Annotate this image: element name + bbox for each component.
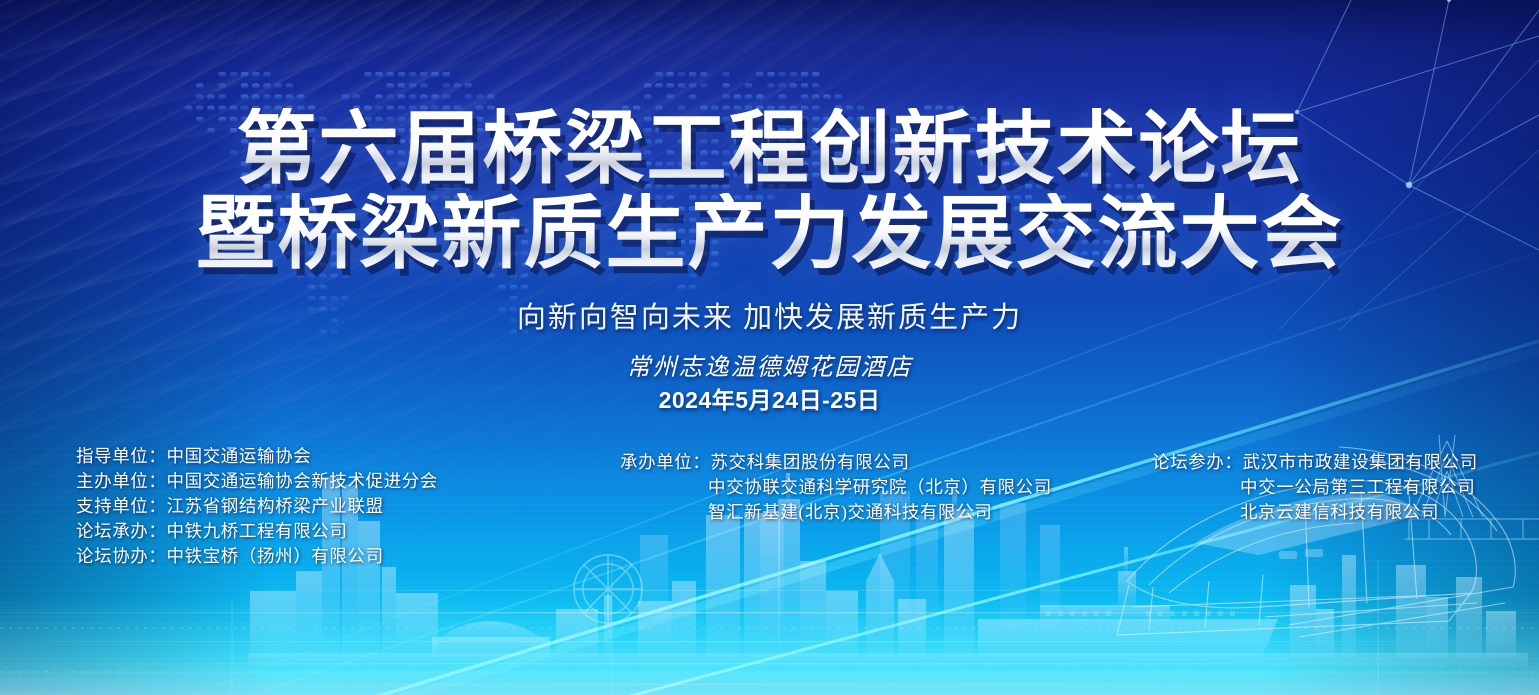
title-line-2: 暨桥梁新质生产力发展交流大会 [0, 193, 1539, 278]
credit-row: 北京云建信科技有限公司 [1152, 500, 1478, 525]
credit-value: 中国交通运输协会新技术促进分会 [167, 469, 439, 494]
conference-banner: 第六届桥梁工程创新技术论坛 暨桥梁新质生产力发展交流大会 向新向智向未来 加快发… [0, 0, 1539, 695]
credit-label: 承办单位： [620, 450, 711, 475]
credit-value: 中交一公局第三工程有限公司 [1240, 475, 1475, 500]
credits-column-middle: 承办单位：苏交科集团股份有限公司 中交协联交通科学研究院（北京）有限公司 智汇新… [620, 450, 1052, 525]
credit-label: 指导单位： [76, 444, 167, 469]
venue-name: 常州志逸温德姆花园酒店 [0, 352, 1539, 384]
credit-value: 北京云建信科技有限公司 [1240, 500, 1439, 525]
credit-row: 指导单位：中国交通运输协会 [76, 444, 438, 469]
credit-row: 论坛参办：武汉市市政建设集团有限公司 [1152, 450, 1478, 475]
credit-value: 中国交通运输协会 [167, 444, 312, 469]
credit-row: 论坛承办：中铁九桥工程有限公司 [76, 519, 438, 544]
credit-row: 支持单位：江苏省钢结构桥梁产业联盟 [76, 494, 438, 519]
credit-row: 中交协联交通科学研究院（北京）有限公司 [620, 475, 1052, 500]
credit-value: 苏交科集团股份有限公司 [711, 450, 910, 475]
credit-label: 主办单位： [76, 469, 167, 494]
venue-block: 常州志逸温德姆花园酒店 2024年5月24日-25日 [0, 352, 1539, 418]
credits-column-right: 论坛参办：武汉市市政建设集团有限公司 中交一公局第三工程有限公司 北京云建信科技… [1152, 450, 1478, 525]
title-block: 第六届桥梁工程创新技术论坛 暨桥梁新质生产力发展交流大会 [0, 108, 1539, 278]
credit-label: 论坛协办： [76, 544, 167, 569]
credit-label: 论坛承办： [76, 519, 167, 544]
credit-label: 支持单位： [76, 494, 167, 519]
slogan: 向新向智向未来 加快发展新质生产力 [0, 294, 1539, 336]
credit-row: 主办单位：中国交通运输协会新技术促进分会 [76, 469, 438, 494]
credit-value: 武汉市市政建设集团有限公司 [1243, 450, 1478, 475]
credit-value: 中铁宝桥（扬州）有限公司 [167, 544, 384, 569]
event-dates: 2024年5月24日-25日 [0, 384, 1539, 417]
credit-row: 承办单位：苏交科集团股份有限公司 [620, 450, 1052, 475]
credit-row: 智汇新基建(北京)交通科技有限公司 [620, 500, 1052, 525]
credits-section: 指导单位：中国交通运输协会 主办单位：中国交通运输协会新技术促进分会 支持单位：… [0, 444, 1539, 574]
credit-value: 智汇新基建(北京)交通科技有限公司 [708, 500, 992, 525]
title-line-1: 第六届桥梁工程创新技术论坛 [0, 108, 1539, 193]
credits-column-left: 指导单位：中国交通运输协会 主办单位：中国交通运输协会新技术促进分会 支持单位：… [76, 444, 438, 569]
credit-value: 江苏省钢结构桥梁产业联盟 [167, 494, 384, 519]
credit-value: 中交协联交通科学研究院（北京）有限公司 [708, 475, 1052, 500]
credit-value: 中铁九桥工程有限公司 [167, 519, 348, 544]
credit-row: 论坛协办：中铁宝桥（扬州）有限公司 [76, 544, 438, 569]
credit-row: 中交一公局第三工程有限公司 [1152, 475, 1478, 500]
credit-label: 论坛参办： [1152, 450, 1243, 475]
